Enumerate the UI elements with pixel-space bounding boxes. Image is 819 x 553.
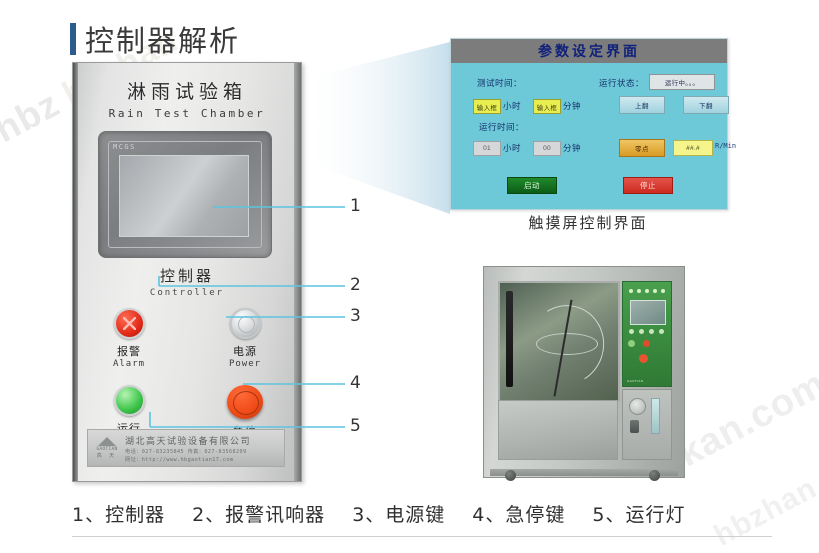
emergency-stop-icon[interactable] [227, 385, 263, 419]
rain-test-chamber-photo: GAOTIAN [483, 262, 697, 484]
power-key-icon[interactable] [230, 308, 261, 339]
caster-right-icon [649, 470, 660, 481]
panel-title-en: Rain Test Chamber [73, 107, 301, 120]
watermark-left-top: hbz [0, 83, 67, 151]
chamber-control-box: GAOTIAN [622, 281, 672, 387]
page-up-button[interactable]: 上翻 [619, 96, 665, 114]
mcgs-brand-label: MCGS [113, 143, 136, 151]
flow-unit-label: R/Min [715, 142, 736, 150]
chamber-gauge-box [622, 389, 672, 460]
title-accent-bar [70, 23, 76, 55]
controller-section-label: 控制器 Controller [73, 265, 301, 298]
brand-company: 湖北高天试验设备有限公司 [125, 434, 278, 447]
chamber-body: GAOTIAN [483, 266, 685, 478]
panel-title-cn: 淋雨试验箱 [73, 77, 301, 104]
hmi-body: 测试时间： 运行状态： 运行中。。。 输入框 小时 输入框 分钟 上翻 下翻 运… [451, 63, 727, 209]
chamber-estop-icon [639, 354, 648, 363]
alarm-label-cn: 报警 [102, 343, 156, 359]
alarm-button[interactable]: 报警 Alarm [102, 308, 156, 369]
controller-label-cn: 控制器 [73, 265, 301, 286]
run-lamp-icon[interactable] [114, 385, 145, 416]
callout-number-3: 3 [350, 306, 361, 326]
hmi-glass-surface[interactable] [119, 155, 249, 237]
legend-item-1: 1、控制器 [72, 500, 165, 527]
hmi-caption: 触摸屏控制界面 [450, 212, 726, 233]
alarm-label-en: Alarm [102, 359, 156, 369]
minutes-unit-label: 分钟 [563, 100, 581, 112]
logo-cn: 高 天 [94, 452, 120, 459]
brand-plate: GAOTIAN 高 天 湖北高天试验设备有限公司 电话：027-83235845… [87, 429, 285, 467]
flow-tube-icon [651, 398, 660, 434]
minutes-input[interactable]: 输入框 [533, 99, 561, 114]
caster-left-icon [505, 470, 516, 481]
chamber-box-footer: GAOTIAN [627, 379, 643, 383]
run-status-value: 运行中。。。 [649, 74, 715, 90]
hmi-screenshot[interactable]: 参数设定界面 测试时间： 运行状态： 运行中。。。 输入框 小时 输入框 分钟 … [450, 38, 728, 210]
page-title: 控制器解析 [70, 18, 240, 60]
hmi-title-bar: 参数设定界面 [451, 39, 727, 63]
test-time-label: 测试时间： [477, 77, 522, 89]
run-hours-unit: 小时 [503, 142, 521, 154]
legend-item-3: 3、电源键 [352, 500, 445, 527]
legend-item-2: 2、报警讯响器 [192, 500, 325, 527]
chamber-lower-panel [498, 400, 618, 460]
legend-row: 1、控制器 2、报警讯响器 3、电源键 4、急停键 5、运行灯 [72, 500, 772, 527]
chamber-key-row [628, 340, 650, 347]
callout-number-4: 4 [350, 373, 361, 393]
brand-contact: 电话：027-83235845 传真：027-83568209 [125, 448, 278, 455]
zero-point-button[interactable]: 零点 [619, 139, 665, 157]
run-time-label: 运行时间： [479, 121, 524, 133]
hmi-title-text: 参数设定界面 [538, 41, 640, 61]
stop-button[interactable]: 停止 [623, 177, 673, 194]
controller-label-en: Controller [73, 288, 301, 298]
hmi-touchscreen[interactable]: MCGS [98, 131, 272, 258]
legend-item-5: 5、运行灯 [592, 500, 685, 527]
hours-input[interactable]: 输入框 [473, 99, 501, 114]
run-hours-value: 01 [473, 141, 501, 156]
brand-website: 网址：http://www.hbgaotian17.com [125, 456, 278, 463]
power-button[interactable]: 电源 Power [218, 308, 272, 369]
panel-title: 淋雨试验箱 Rain Test Chamber [73, 77, 301, 120]
hours-unit-label: 小时 [503, 100, 521, 112]
chamber-led-row [629, 289, 665, 293]
brand-texts: 湖北高天试验设备有限公司 电话：027-83235845 传真：027-8356… [125, 434, 278, 463]
legend-divider [72, 536, 772, 537]
power-label-cn: 电源 [218, 343, 272, 359]
legend-item-4: 4、急停键 [472, 500, 565, 527]
alarm-buzzer-icon[interactable] [114, 308, 145, 339]
logo-triangle-icon [98, 437, 116, 446]
zoom-wedge [300, 42, 450, 242]
button-row-top: 报警 Alarm 电源 Power [73, 308, 301, 369]
page-down-button[interactable]: 下翻 [683, 96, 729, 114]
chamber-hmi-screen [630, 300, 666, 325]
gaotian-logo-icon: GAOTIAN 高 天 [94, 437, 120, 459]
run-minutes-unit: 分钟 [563, 142, 581, 154]
valve-knob-icon [630, 420, 639, 433]
flow-value: ##.# [673, 140, 713, 156]
pressure-gauge-icon [629, 398, 646, 415]
controller-panel-photo: 淋雨试验箱 Rain Test Chamber MCGS 控制器 Control… [72, 62, 302, 482]
page-title-text: 控制器解析 [85, 18, 240, 60]
chamber-glass-door [498, 281, 620, 402]
callout-number-1: 1 [350, 196, 361, 216]
turntable-ring-icon [536, 333, 598, 355]
run-minutes-value: 00 [533, 141, 561, 156]
run-status-label: 运行状态： [599, 77, 644, 89]
callout-number-5: 5 [350, 416, 361, 436]
page-root: hbz hbzhan kan.com hbzhan.com 控制器解析 淋雨试验… [0, 0, 819, 547]
chamber-indicator-row [629, 329, 664, 334]
callout-number-2: 2 [350, 275, 361, 295]
power-label-en: Power [218, 359, 272, 369]
start-button[interactable]: 启动 [507, 177, 557, 194]
